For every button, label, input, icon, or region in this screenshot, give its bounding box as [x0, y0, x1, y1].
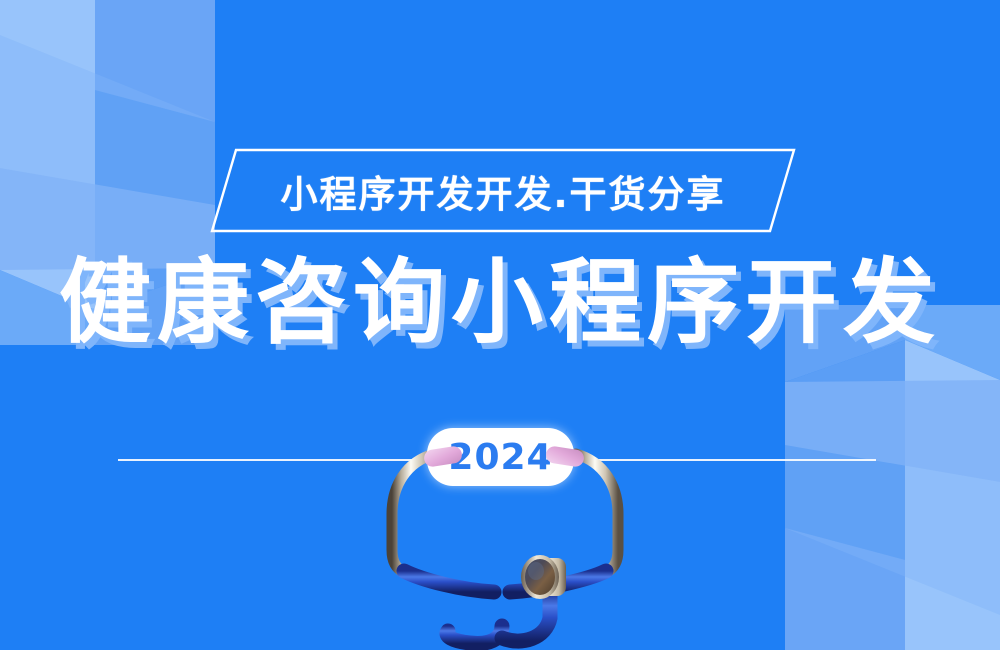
deco-shape-right-2 [785, 445, 1000, 615]
poster-canvas: 小程序开发开发.干货分享 健康咨询小程序开发 [0, 0, 1000, 650]
deco-shape-right-3 [785, 528, 905, 650]
deco-shape-left-2 [0, 35, 215, 205]
stethoscope-ear-tube-left [392, 454, 434, 573]
subtitle-text: 小程序开发开发.干货分享 [210, 148, 796, 233]
page-title: 健康咨询小程序开发 [0, 255, 1000, 352]
stethoscope-chestpiece [521, 555, 566, 599]
stethoscope-tube-left [404, 571, 494, 592]
deco-shape-left-3 [95, 0, 215, 122]
year-badge-label: 2024 [448, 437, 552, 478]
subtitle-banner: 小程序开发开发.干货分享 [210, 148, 796, 233]
stethoscope-ear-tube-right [576, 454, 618, 573]
deco-shape-right-1 [905, 340, 1000, 650]
deco-shape-right-4 [785, 340, 905, 560]
deco-shape-right-5 [785, 380, 1000, 482]
stethoscope-tube-curl-left [447, 626, 502, 643]
